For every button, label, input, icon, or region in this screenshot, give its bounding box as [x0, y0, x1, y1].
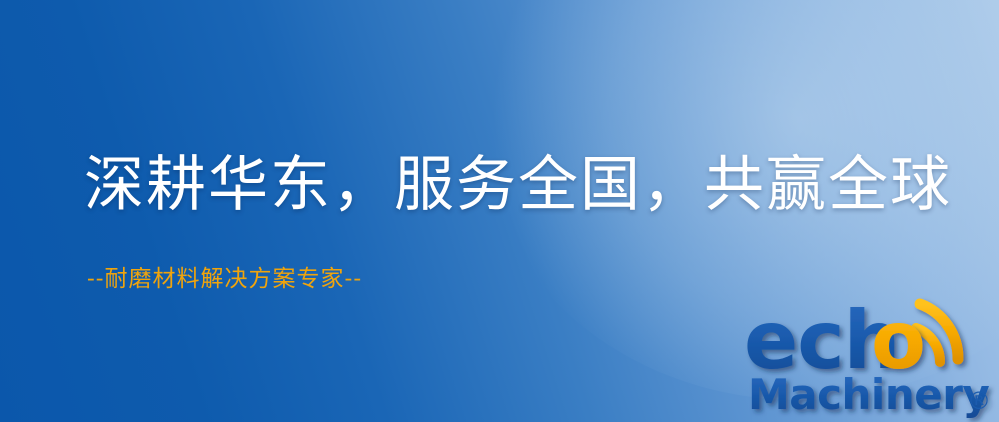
banner-subtitle: --耐磨材料解决方案专家--	[87, 268, 362, 291]
logo-tagline: Machinery	[748, 370, 989, 419]
banner-headline: 深耕华东，服务全国，共赢全球	[84, 155, 952, 215]
logo-registered-mark: ®	[967, 387, 991, 415]
hero-banner: 深耕华东，服务全国，共赢全球 --耐磨材料解决方案专家--	[0, 0, 999, 422]
echo-machinery-logo[interactable]: ech o Machinery ®	[744, 296, 999, 422]
